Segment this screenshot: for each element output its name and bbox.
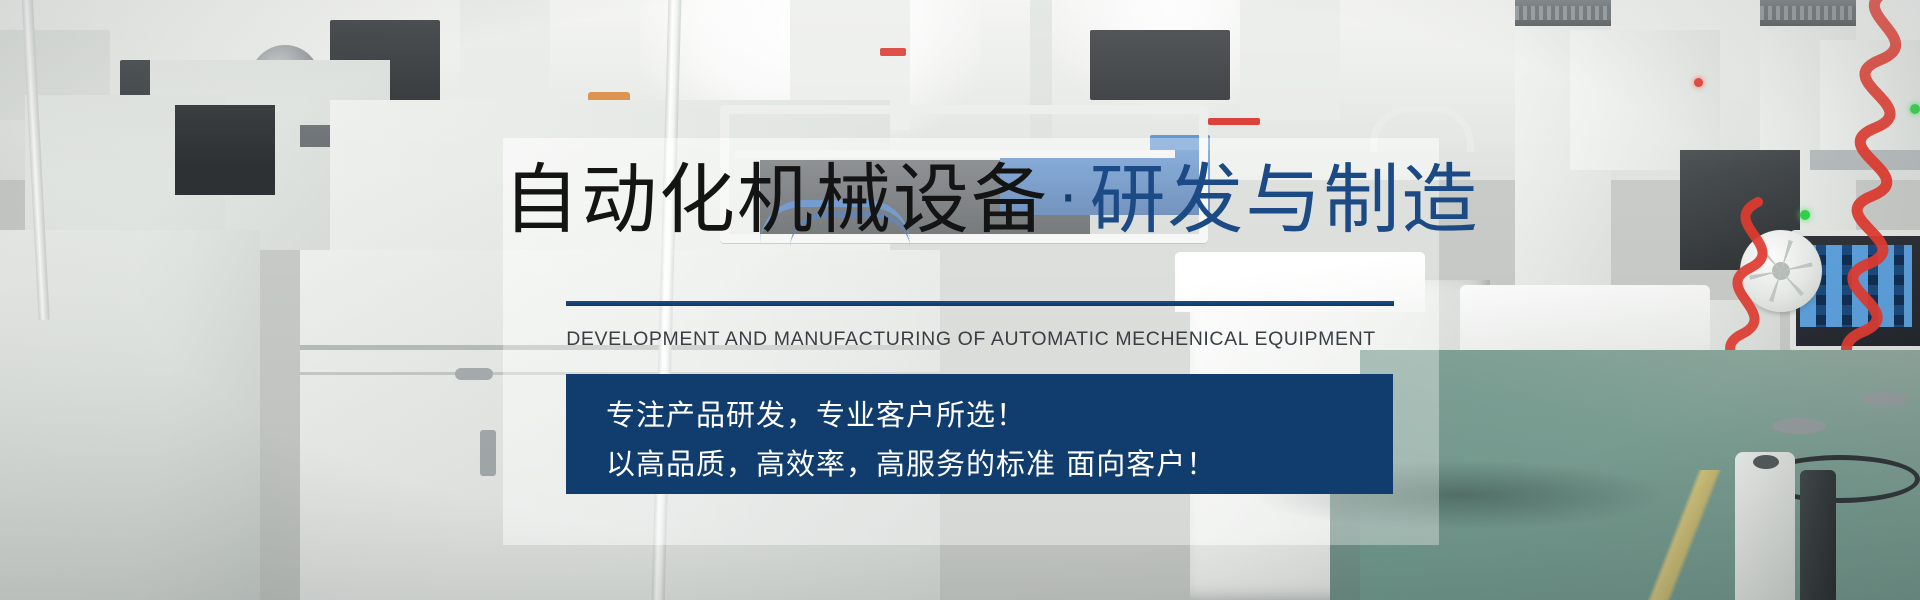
machine-center-hinge <box>455 368 493 380</box>
headline-accent: 研发与制造 <box>1089 155 1479 244</box>
hero-headline: 自动化机械设备·研发与制造 <box>503 162 1439 238</box>
headline-separator: · <box>1049 164 1089 232</box>
bg-machine-dark-3 <box>1090 30 1230 100</box>
machine-foot-2 <box>1862 392 1908 406</box>
bg-machine-white-2 <box>460 0 550 110</box>
machine-left-panel-dark <box>175 105 275 195</box>
material-roll-1 <box>1735 452 1795 600</box>
headline-primary: 自动化机械设备 <box>503 155 1049 244</box>
banner-hero: 自动化机械设备·研发与制造 DEVELOPMENT AND MANUFACTUR… <box>0 0 1920 600</box>
headline-divider-rule <box>566 301 1394 306</box>
callout-line-1: 专注产品研发，专业客户所选！ <box>606 392 1026 434</box>
machine-center-latch <box>480 430 496 476</box>
bg-indicator-red-2 <box>1208 118 1260 125</box>
machine-right-cap-1 <box>1515 0 1611 26</box>
machine-foot-1 <box>1772 418 1826 434</box>
material-roll-core <box>1753 455 1779 469</box>
bg-indicator-red <box>880 48 906 56</box>
bg-machine-white-4 <box>1240 0 1340 120</box>
material-roll-2 <box>1800 470 1836 600</box>
hero-subheadline: DEVELOPMENT AND MANUFACTURING OF AUTOMAT… <box>503 328 1439 351</box>
callout-box: 专注产品研发，专业客户所选！ 以高品质，高效率，高服务的标准 面向客户！ <box>566 374 1393 494</box>
callout-line-2: 以高品质，高效率，高服务的标准 面向客户！ <box>606 441 1216 483</box>
